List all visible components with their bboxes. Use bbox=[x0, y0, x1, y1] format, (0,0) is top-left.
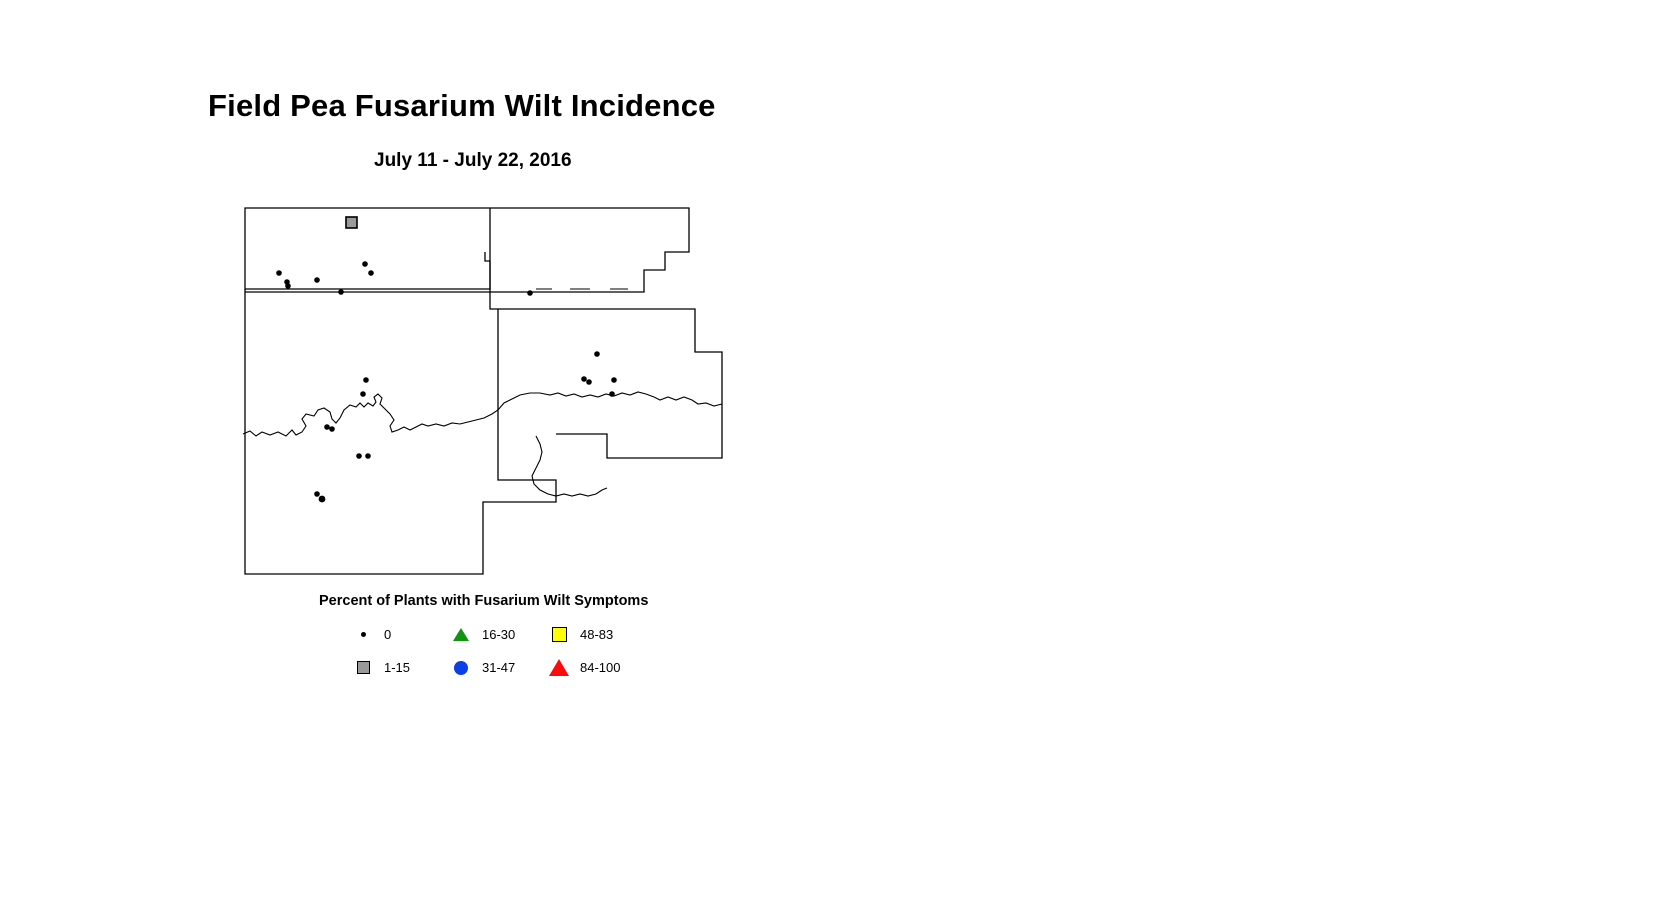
data-point bbox=[329, 426, 335, 432]
legend-item-48-83: 48-83 bbox=[546, 618, 656, 651]
data-point-square bbox=[346, 217, 357, 228]
legend-item-1-15: 1-15 bbox=[350, 651, 448, 684]
data-point bbox=[594, 351, 600, 357]
data-point bbox=[581, 376, 587, 382]
map-boundaries bbox=[243, 208, 722, 574]
boundary-northwest-block bbox=[245, 208, 490, 289]
data-point bbox=[314, 491, 320, 497]
legend-item-16-30: 16-30 bbox=[448, 618, 546, 651]
legend-label: 84-100 bbox=[580, 660, 620, 675]
legend-row: 1-15 31-47 84-100 bbox=[350, 651, 680, 684]
data-point bbox=[527, 290, 533, 296]
map-svg bbox=[240, 204, 740, 594]
data-point bbox=[362, 261, 368, 267]
data-point bbox=[319, 496, 326, 503]
data-point bbox=[363, 377, 369, 383]
legend-item-31-47: 31-47 bbox=[448, 651, 546, 684]
data-point bbox=[338, 289, 344, 295]
data-point bbox=[314, 277, 320, 283]
legend-label: 48-83 bbox=[580, 627, 613, 642]
legend-row: 0 16-30 48-83 bbox=[350, 618, 680, 651]
data-point bbox=[360, 391, 366, 397]
data-point bbox=[276, 270, 282, 276]
boundary-southeast-block bbox=[498, 309, 722, 458]
boundary-northeast-block bbox=[485, 208, 689, 292]
figure-canvas: Field Pea Fusarium Wilt Incidence July 1… bbox=[0, 0, 1673, 900]
legend-title: Percent of Plants with Fusarium Wilt Sym… bbox=[319, 593, 648, 609]
legend-triangle-green-icon bbox=[448, 625, 474, 645]
legend-dot-icon bbox=[350, 625, 376, 645]
legend-item-84-100: 84-100 bbox=[546, 651, 656, 684]
legend-square-yellow-icon bbox=[546, 625, 572, 645]
data-point bbox=[324, 424, 330, 430]
data-point bbox=[365, 453, 371, 459]
map-panel bbox=[240, 204, 740, 594]
data-point bbox=[586, 379, 592, 385]
legend-square-gray-icon bbox=[350, 658, 376, 678]
boundary-lake-line bbox=[532, 436, 607, 496]
boundary-river-line bbox=[243, 392, 722, 436]
legend-label: 1-15 bbox=[384, 660, 410, 675]
legend-circle-blue-icon bbox=[448, 658, 474, 678]
data-point bbox=[368, 270, 374, 276]
page-subtitle: July 11 - July 22, 2016 bbox=[374, 150, 572, 172]
legend-label: 0 bbox=[384, 627, 391, 642]
page-title: Field Pea Fusarium Wilt Incidence bbox=[208, 88, 716, 124]
legend-item-0: 0 bbox=[350, 618, 448, 651]
legend-triangle-red-icon bbox=[546, 658, 572, 678]
data-point bbox=[285, 283, 291, 289]
map-data-points bbox=[276, 217, 617, 502]
data-point bbox=[609, 391, 615, 397]
legend-label: 31-47 bbox=[482, 660, 515, 675]
legend-label: 16-30 bbox=[482, 627, 515, 642]
legend: 0 16-30 48-83 1-15 31-47 84-100 bbox=[350, 618, 680, 684]
data-point bbox=[611, 377, 617, 383]
data-point bbox=[356, 453, 362, 459]
boundary-southwest-block bbox=[245, 289, 556, 574]
